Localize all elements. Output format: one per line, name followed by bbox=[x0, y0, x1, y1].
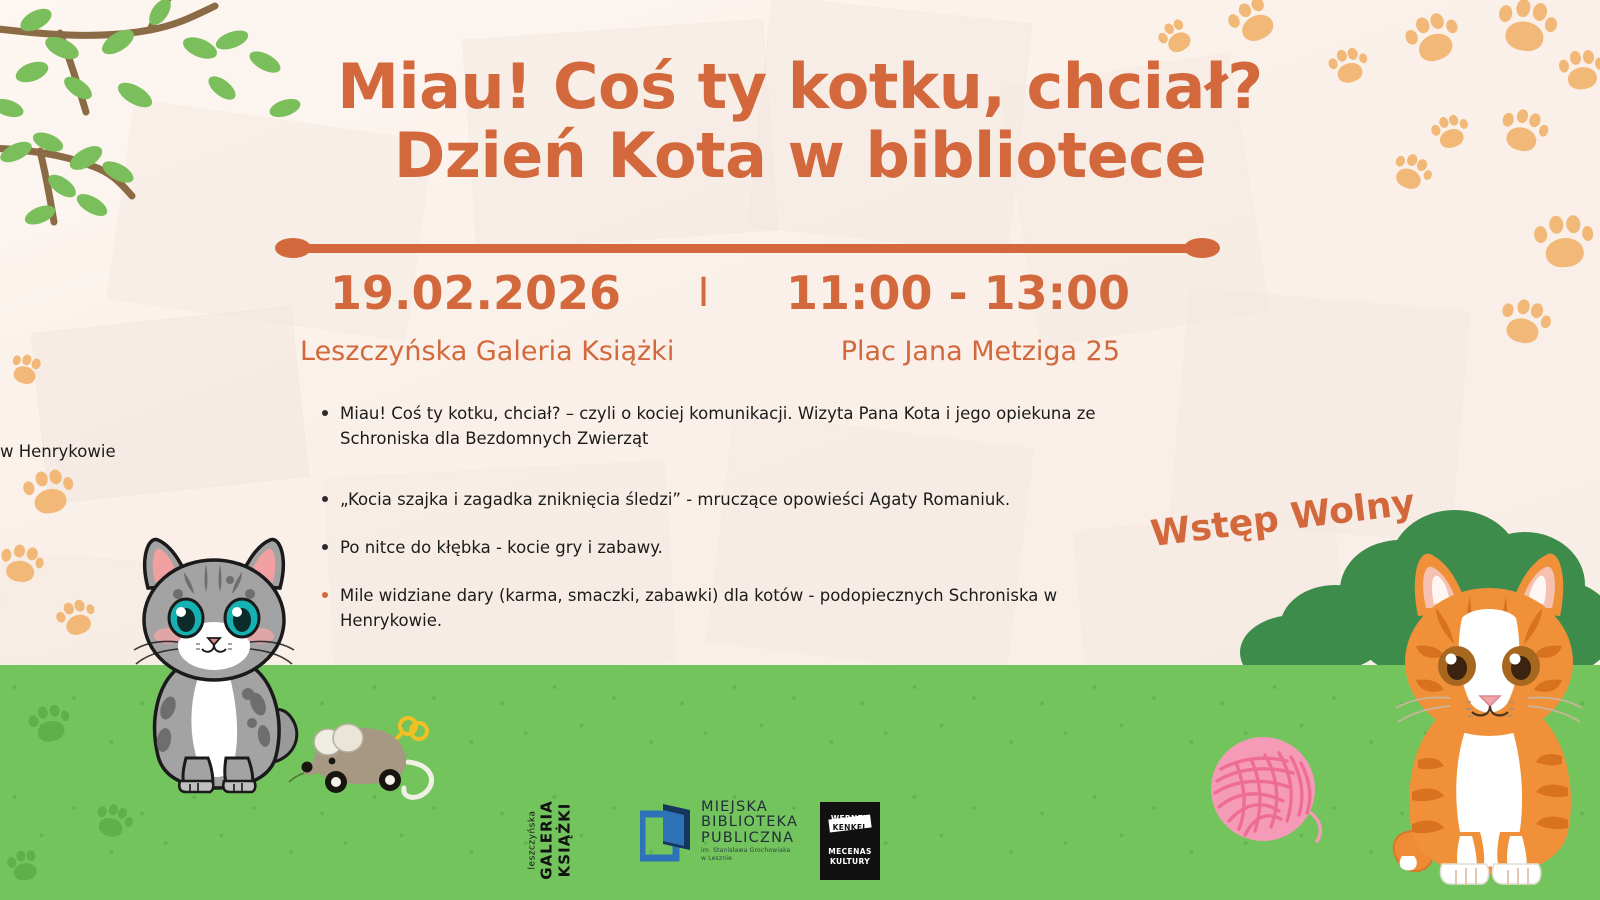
lgk-line-2: KSIĄŻKI bbox=[556, 800, 574, 879]
poster-title: Miau! Coś ty kotku, chciał? Dzień Kota w… bbox=[0, 52, 1600, 191]
logo-miejska-biblioteka-publiczna: MIEJSKA BIBLIOTEKA PUBLICZNA im. Stanisł… bbox=[640, 800, 798, 863]
event-date: 19.02.2026 bbox=[275, 266, 621, 320]
program-item: Po nitce do kłębka - kocie gry i zabawy. bbox=[318, 536, 1138, 561]
paw-icon bbox=[26, 701, 76, 750]
mbp-sub-1: im. Stanisława Grochowiaka bbox=[701, 848, 798, 854]
paw-icon bbox=[91, 800, 137, 845]
wk-sub-2: KULTURY bbox=[820, 857, 880, 867]
wk-name-2: KENKEL bbox=[827, 823, 873, 832]
paw-icon bbox=[1533, 212, 1598, 275]
orange-tabby-kitten bbox=[1378, 520, 1596, 890]
event-address: Plac Jana Metziga 25 bbox=[841, 336, 1220, 367]
paw-icon bbox=[1496, 295, 1555, 352]
sponsor-logos: leszczyńska GALERIA KSIĄŻKI MIEJSKA BIBL… bbox=[520, 782, 900, 894]
divider-bar bbox=[275, 238, 1220, 258]
program-item-text: w Henrykowie bbox=[0, 442, 116, 461]
mbp-line-1: MIEJSKA bbox=[701, 800, 798, 815]
program-item-continuation: w Henrykowie bbox=[0, 440, 1138, 465]
event-time: 11:00 - 13:00 bbox=[786, 266, 1220, 320]
program-item-text: „Kocia szajka i zagadka zniknięcia śledz… bbox=[340, 490, 1010, 509]
wk-mark-icon: WERNER KENKEL bbox=[827, 811, 873, 835]
program-item-text: Mile widziane dary (karma, smaczki, zaba… bbox=[340, 586, 1057, 630]
paw-icon bbox=[1224, 0, 1286, 49]
meta-separator: I bbox=[698, 270, 710, 316]
lgk-line-1: GALERIA bbox=[538, 800, 556, 879]
divider-line bbox=[293, 244, 1202, 253]
logo-leszczynska-galeria-ksiazki: leszczyńska GALERIA KSIĄŻKI bbox=[528, 788, 574, 892]
mbp-sub-2: w Lesznie bbox=[701, 856, 798, 862]
open-book-icon bbox=[640, 800, 694, 862]
mbp-line-3: PUBLICZNA bbox=[701, 831, 798, 846]
logo-werner-kenkel: WERNER KENKEL MECENAS KULTURY bbox=[820, 802, 880, 880]
divider-dot-right bbox=[1184, 238, 1220, 258]
event-meta: 19.02.2026 I 11:00 - 13:00 Leszczyńska G… bbox=[275, 266, 1220, 367]
title-line-2: Dzień Kota w bibliotece bbox=[0, 121, 1600, 190]
lgk-small-text: leszczyńska bbox=[528, 800, 538, 879]
program-list: Miau! Coś ty kotku, chciał? – czyli o ko… bbox=[318, 402, 1138, 656]
paw-icon bbox=[6, 848, 46, 887]
wind-up-toy-mouse bbox=[280, 700, 445, 810]
program-item-text: Po nitce do kłębka - kocie gry i zabawy. bbox=[340, 538, 663, 557]
mbp-line-2: BIBLIOTEKA bbox=[701, 815, 798, 830]
program-item: „Kocia szajka i zagadka zniknięcia śledz… bbox=[318, 488, 1138, 513]
event-venue: Leszczyńska Galeria Książki bbox=[275, 336, 674, 367]
program-item: Mile widziane dary (karma, smaczki, zaba… bbox=[318, 584, 1138, 634]
wk-sub-1: MECENAS bbox=[820, 847, 880, 857]
poster: Miau! Coś ty kotku, chciał? Dzień Kota w… bbox=[0, 0, 1600, 900]
title-line-1: Miau! Coś ty kotku, chciał? bbox=[0, 52, 1600, 121]
pink-yarn-ball bbox=[1205, 733, 1325, 853]
